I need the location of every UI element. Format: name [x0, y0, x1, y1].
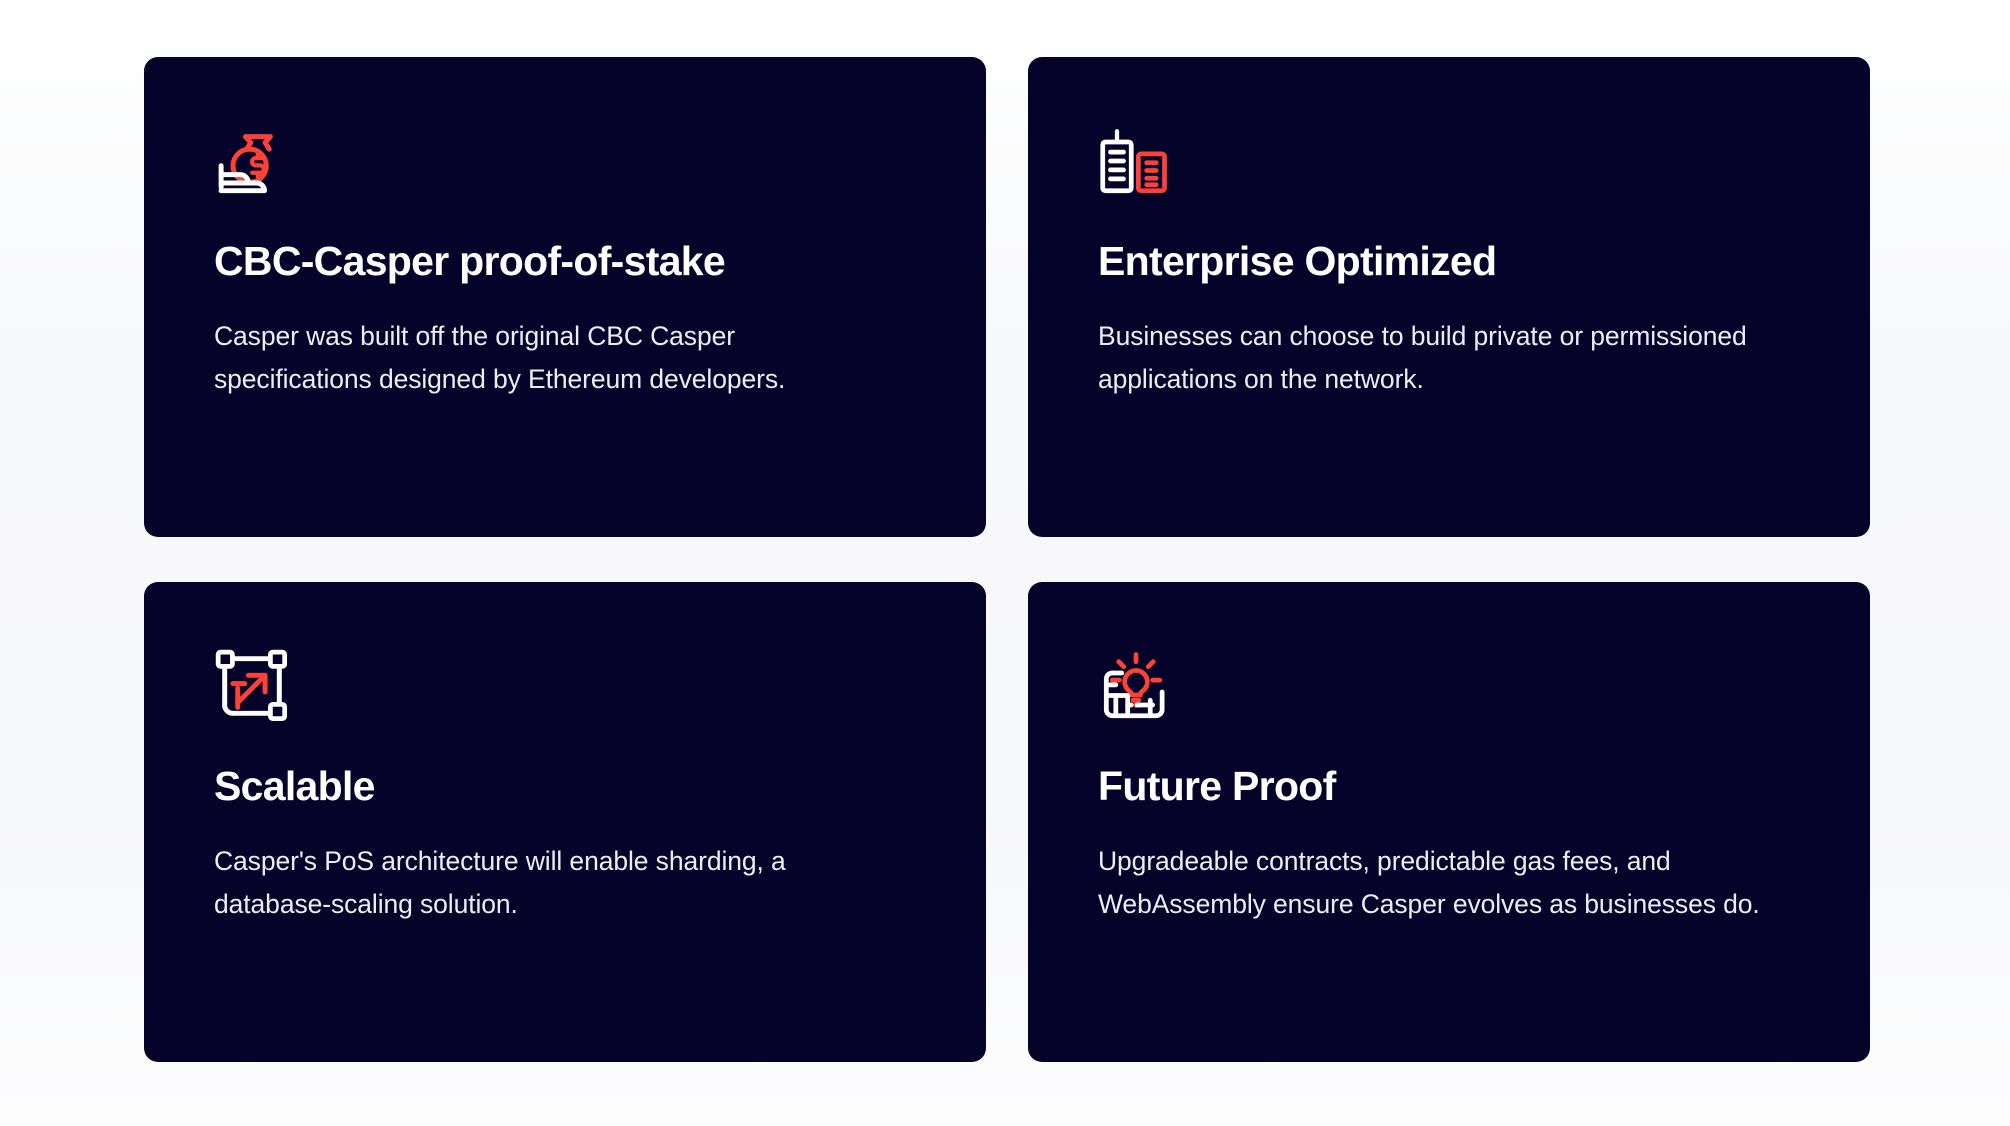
feature-cards-page: CBC-Casper proof-of-stake Casper was bui…: [0, 0, 2010, 1126]
feature-card-body: Upgradeable contracts, predictable gas f…: [1098, 840, 1798, 926]
money-bag-stake-icon: [214, 123, 290, 199]
feature-card-title: Scalable: [214, 764, 916, 810]
feature-card-title: Enterprise Optimized: [1098, 239, 1800, 285]
feature-card-enterprise-optimized[interactable]: Enterprise Optimized Businesses can choo…: [1028, 57, 1870, 537]
office-buildings-icon: [1098, 123, 1174, 199]
feature-cards-grid: CBC-Casper proof-of-stake Casper was bui…: [144, 57, 1870, 1062]
lightbulb-circuit-icon: [1098, 648, 1174, 724]
feature-card-scalable[interactable]: Scalable Casper's PoS architecture will …: [144, 582, 986, 1062]
feature-card-title: Future Proof: [1098, 764, 1800, 810]
feature-card-body: Casper's PoS architecture will enable sh…: [214, 840, 874, 926]
scale-resize-arrow-icon: [214, 648, 290, 724]
feature-card-body: Casper was built off the original CBC Ca…: [214, 315, 874, 401]
feature-card-body: Businesses can choose to build private o…: [1098, 315, 1758, 401]
feature-card-future-proof[interactable]: Future Proof Upgradeable contracts, pred…: [1028, 582, 1870, 1062]
feature-card-cbc-casper-proof-of-stake[interactable]: CBC-Casper proof-of-stake Casper was bui…: [144, 57, 986, 537]
feature-card-title: CBC-Casper proof-of-stake: [214, 239, 916, 285]
